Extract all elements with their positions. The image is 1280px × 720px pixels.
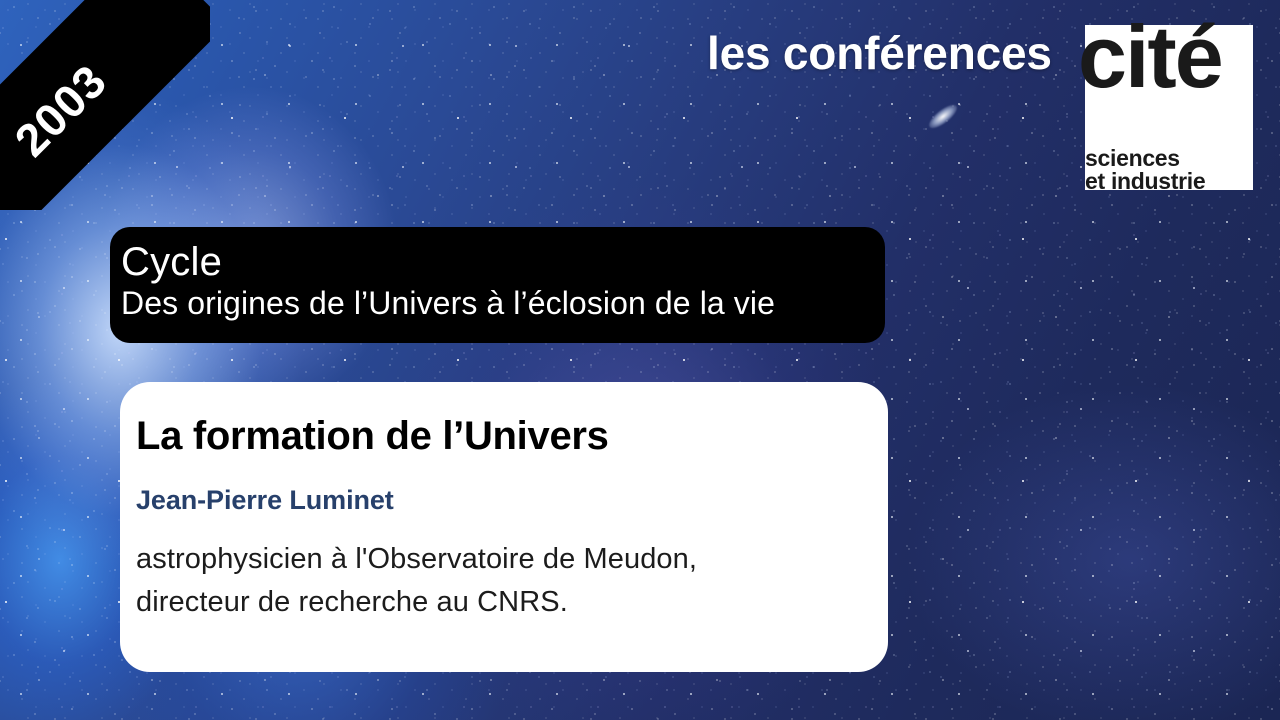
talk-card: La formation de l’Univers Jean-Pierre Lu… [120,382,888,672]
year-ribbon-band: 2003 [0,0,210,210]
logo-wordmark: cité [1078,13,1222,101]
talk-affiliation-line-1: astrophysicien à l'Observatoire de Meudo… [136,538,852,581]
talk-affiliation-line-2: directeur de recherche au CNRS. [136,581,852,624]
cycle-banner: Cycle Des origines de l’Univers à l’éclo… [110,227,885,343]
cycle-subtitle: Des origines de l’Univers à l’éclosion d… [121,285,885,322]
talk-speaker: Jean-Pierre Luminet [136,485,852,516]
page-title: les conférences [707,28,1052,79]
cycle-label: Cycle [121,240,885,285]
logo-tagline-line-2: et industrie [1085,170,1205,193]
conference-slide: 2003 les conférences cité sciences et in… [0,0,1280,720]
year-label: 2003 [7,56,115,164]
cite-logo: cité sciences et industrie [1085,25,1253,190]
year-ribbon: 2003 [0,0,210,210]
talk-affiliation: astrophysicien à l'Observatoire de Meudo… [136,538,852,624]
talk-title: La formation de l’Univers [136,414,852,458]
logo-tagline-line-1: sciences [1085,147,1205,170]
logo-tagline: sciences et industrie [1085,147,1205,194]
